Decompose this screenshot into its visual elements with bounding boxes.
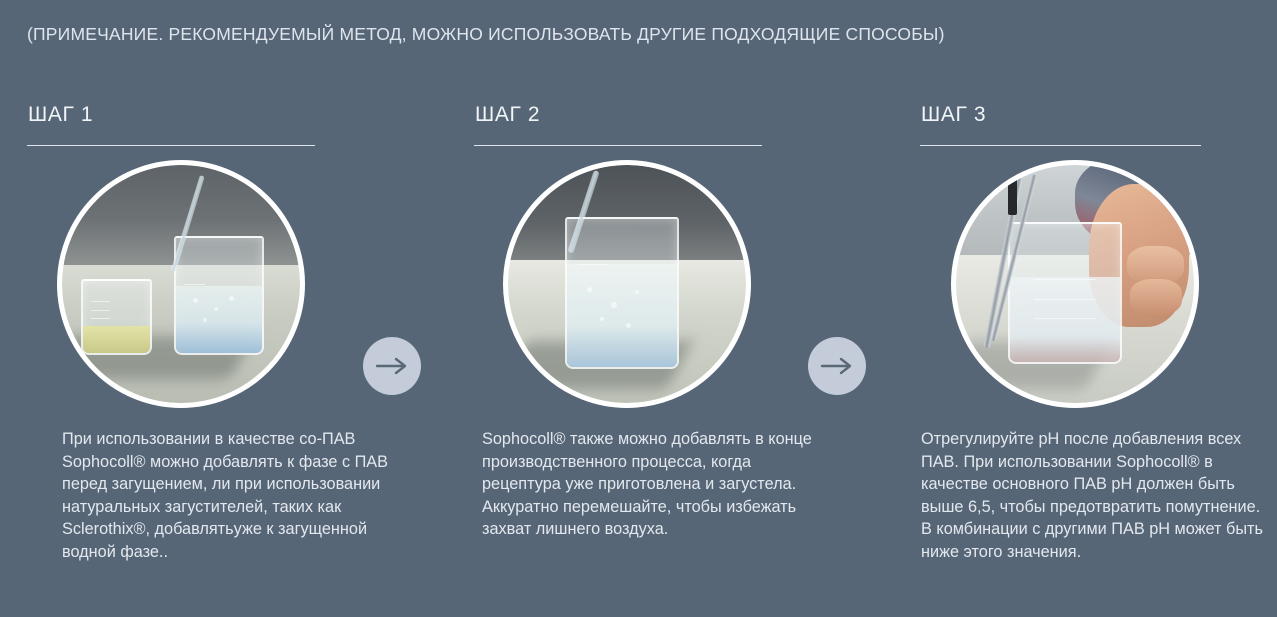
step-title-divider-3 [920,145,1201,146]
step-title-1: ШАГ 1 [27,104,317,125]
step-title-divider-2 [474,145,762,146]
step-card-1: ШАГ 1 [27,104,317,146]
step-title-divider-1 [27,145,315,146]
step-image-2 [503,160,751,408]
lab-scene-1 [62,165,300,403]
graduation-mark [1034,299,1095,300]
graduation-mark [1034,279,1095,280]
graduation-mark [578,264,606,265]
hand-beaker-ph-photo [956,165,1194,403]
small-beaker-liquid [83,326,150,353]
steps-container: ШАГ 1 [0,104,1277,617]
graduation-mark [1034,318,1095,319]
beaker-liquid [567,264,676,367]
lab-scene-3 [956,165,1194,403]
beaker-liquid [1010,277,1119,363]
lab-scene-2 [508,165,746,403]
beaker [1008,222,1121,364]
electrode-cap [1008,177,1017,215]
bubble [626,323,631,328]
bubble [214,307,218,311]
step-image-3 [951,160,1199,408]
step-title-3: ШАГ 3 [920,104,1210,125]
arrow-right-icon [375,356,409,376]
arrow-right-icon [820,356,854,376]
finger [1130,279,1182,315]
bubble [600,317,604,321]
header-note: (ПРИМЕЧАНИЕ. РЕКОМЕНДУЕМЫЙ МЕТОД, МОЖНО … [27,24,945,45]
step-description-1: При использовании в качестве со-ПАВ Soph… [62,428,414,564]
step-connector-1 [363,337,421,395]
step-description-2: Sophocoll® также можно добавлять в конце… [482,428,818,541]
large-beaker [174,236,264,354]
step-title-2: ШАГ 2 [474,104,764,125]
step-card-3: ШАГ 3 [920,104,1210,146]
graduation-mark [91,301,110,302]
graduation-mark [184,284,205,285]
large-beaker-liquid [176,286,262,352]
bubble [193,298,198,303]
graduation-mark [91,310,110,311]
step-image-1 [57,160,305,408]
graduation-mark [91,318,110,319]
step-card-2: ШАГ 2 [474,104,764,146]
beakers-pipette-photo [62,165,300,403]
small-beaker [81,279,152,354]
step-connector-2 [808,337,866,395]
bubble [229,296,234,301]
bubble [611,302,617,308]
beaker-stirring-rod-photo [508,165,746,403]
step-description-3: Отрегулируйте pH после добавления всех П… [921,428,1263,564]
large-beaker [565,217,678,369]
